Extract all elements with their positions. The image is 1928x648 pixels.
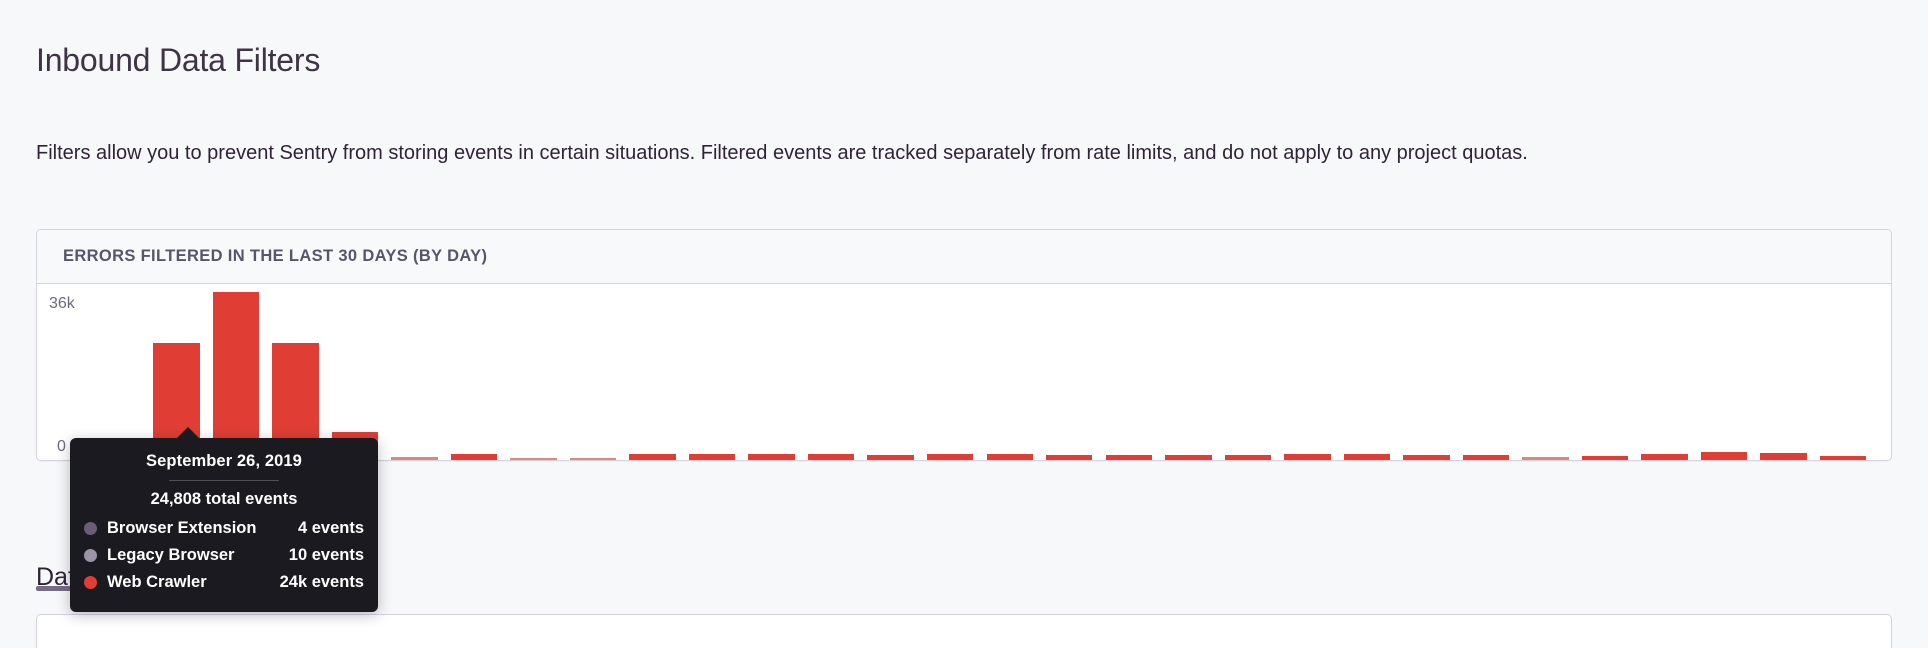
chart-bar[interactable] [391, 457, 437, 461]
chart-bar[interactable] [1106, 455, 1152, 461]
series-value: 10 events [277, 546, 364, 565]
chart-bar[interactable] [510, 458, 556, 461]
tooltip-series-row: Web Crawler24k events [70, 569, 378, 596]
tooltip-series-row: Browser Extension4 events [70, 515, 378, 542]
bar-slot[interactable] [742, 290, 802, 461]
data-filters-panel [36, 614, 1892, 648]
bar-slot[interactable] [623, 290, 683, 461]
chart-bar[interactable] [1463, 455, 1509, 461]
bar-slot[interactable] [1040, 290, 1100, 461]
bar-slot[interactable] [1516, 290, 1576, 461]
bar-slot[interactable] [861, 290, 921, 461]
series-value: 4 events [286, 519, 364, 538]
bar-slot[interactable] [980, 290, 1040, 461]
chart-bar[interactable] [629, 454, 675, 461]
bar-slot[interactable] [444, 290, 504, 461]
bar-slot[interactable] [504, 290, 564, 461]
bar-chart-plot-area[interactable] [87, 290, 1873, 461]
bar-slot[interactable] [206, 290, 266, 461]
chart-bar[interactable] [748, 454, 794, 461]
bar-slot[interactable] [920, 290, 980, 461]
chart-panel-header: ERRORS FILTERED IN THE LAST 30 DAYS (BY … [37, 230, 1891, 284]
series-label: Browser Extension [107, 519, 256, 538]
chart-bar[interactable] [1344, 454, 1390, 461]
bar-slot[interactable] [266, 290, 326, 461]
chart-plot-body: 36k 0 [37, 284, 1891, 461]
series-label: Web Crawler [107, 573, 207, 592]
chart-bar[interactable] [808, 454, 854, 461]
bar-slot[interactable] [1635, 290, 1695, 461]
series-label: Legacy Browser [107, 546, 234, 565]
chart-bar[interactable] [1284, 454, 1330, 461]
chart-bar[interactable] [689, 454, 735, 461]
series-value: 24k events [268, 573, 364, 592]
bar-slot[interactable] [801, 290, 861, 461]
tooltip-arrow-icon [176, 427, 200, 439]
bar-slot[interactable] [563, 290, 623, 461]
series-color-dot-icon [84, 522, 97, 535]
bar-slot[interactable] [1813, 290, 1873, 461]
bar-slot[interactable] [385, 290, 445, 461]
chart-bar[interactable] [570, 458, 616, 461]
y-axis-min-label: 0 [57, 439, 66, 455]
chart-bar[interactable] [1582, 456, 1628, 461]
y-axis-max-label: 36k [49, 296, 75, 312]
bar-slot[interactable] [1159, 290, 1219, 461]
bar-slot[interactable] [1397, 290, 1457, 461]
bar-slot[interactable] [1575, 290, 1635, 461]
tooltip-total-events: 24,808 total events [70, 490, 378, 515]
bar-slot[interactable] [1218, 290, 1278, 461]
chart-bar[interactable] [927, 454, 973, 461]
chart-bar[interactable] [987, 454, 1033, 461]
chart-tooltip: September 26, 2019 24,808 total events B… [70, 438, 378, 612]
bar-slot[interactable] [1337, 290, 1397, 461]
bar-slot[interactable] [325, 290, 385, 461]
bar-slot[interactable] [1099, 290, 1159, 461]
chart-bar[interactable] [1760, 453, 1806, 461]
bar-slot[interactable] [1754, 290, 1814, 461]
chart-bar[interactable] [213, 292, 259, 461]
chart-bar[interactable] [1820, 456, 1866, 461]
chart-bar[interactable] [1165, 455, 1211, 461]
tooltip-series-list: Browser Extension4 eventsLegacy Browser1… [70, 515, 378, 596]
bar-slot[interactable] [682, 290, 742, 461]
chart-bar[interactable] [1641, 454, 1687, 461]
tooltip-series-row: Legacy Browser10 events [70, 542, 378, 569]
tooltip-divider [169, 480, 279, 481]
bar-slot[interactable] [1456, 290, 1516, 461]
errors-filtered-chart-panel: ERRORS FILTERED IN THE LAST 30 DAYS (BY … [36, 229, 1892, 461]
chart-bar[interactable] [1522, 457, 1568, 461]
page-title: Inbound Data Filters [36, 41, 320, 79]
chart-bar[interactable] [1225, 455, 1271, 461]
page-description: Filters allow you to prevent Sentry from… [36, 138, 1868, 169]
bar-slot[interactable] [1694, 290, 1754, 461]
bar-slot[interactable] [87, 290, 147, 461]
chart-bar[interactable] [1701, 452, 1747, 461]
tooltip-date: September 26, 2019 [70, 452, 378, 480]
chart-bar[interactable] [451, 454, 497, 461]
series-color-dot-icon [84, 549, 97, 562]
bar-slot[interactable] [1278, 290, 1338, 461]
chart-bar[interactable] [1046, 455, 1092, 461]
chart-bar[interactable] [867, 455, 913, 461]
chart-panel-title: ERRORS FILTERED IN THE LAST 30 DAYS (BY … [63, 247, 487, 266]
series-color-dot-icon [84, 576, 97, 589]
chart-bar[interactable] [1403, 455, 1449, 461]
